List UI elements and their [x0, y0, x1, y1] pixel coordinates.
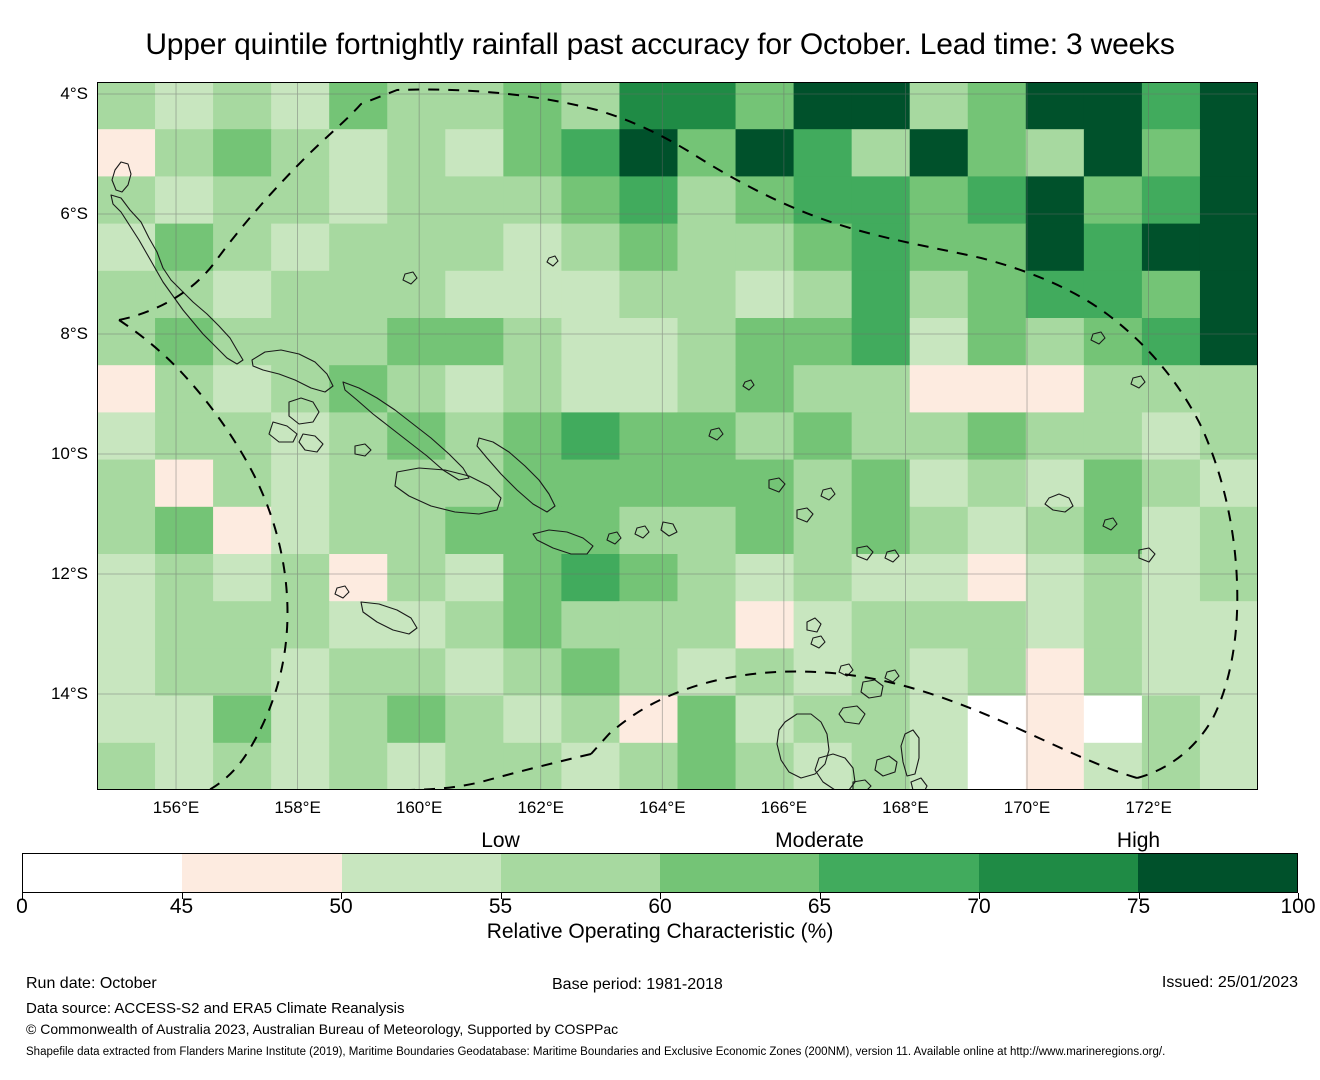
heatmap-cell	[852, 318, 911, 366]
heatmap-cell	[794, 412, 853, 460]
heatmap-cell	[910, 648, 969, 696]
colorbar-band	[182, 854, 341, 892]
heatmap-cell	[968, 507, 1027, 555]
heatmap-cell	[445, 318, 504, 366]
colorbar-tick-mark	[22, 893, 23, 899]
heatmap-cell	[387, 129, 446, 177]
heatmap-cell	[852, 129, 911, 177]
heatmap-cell	[445, 224, 504, 272]
heatmap-cell	[561, 129, 620, 177]
heatmap-cell	[1084, 176, 1143, 224]
heatmap-cell	[619, 554, 678, 602]
heatmap-cell	[329, 365, 388, 413]
heatmap-cell	[1200, 224, 1258, 272]
heatmap-cell	[155, 554, 214, 602]
heatmap-cell	[271, 176, 330, 224]
heatmap-cell	[1200, 318, 1258, 366]
heatmap-cell	[678, 601, 737, 649]
heatmap-cell	[213, 82, 272, 130]
heatmap-cell	[271, 365, 330, 413]
heatmap-cell	[503, 696, 562, 744]
heatmap-cell	[503, 82, 562, 130]
heatmap-cell	[1200, 412, 1258, 460]
heatmap-cell	[213, 743, 272, 790]
colorbar-axis-label: Relative Operating Characteristic (%)	[0, 920, 1320, 944]
heatmap-cell	[794, 271, 853, 319]
heatmap-cell	[271, 460, 330, 508]
heatmap-cell	[968, 412, 1027, 460]
heatmap-cell	[503, 601, 562, 649]
heatmap-cell	[968, 743, 1027, 790]
heatmap-cell	[1026, 365, 1085, 413]
heatmap-cell	[794, 554, 853, 602]
footer-shapefile-attribution: Shapefile data extracted from Flanders M…	[26, 1044, 1286, 1061]
heatmap-cell	[97, 460, 156, 508]
heatmap-cell	[910, 507, 969, 555]
heatmap-cell	[910, 460, 969, 508]
heatmap-cell	[445, 696, 504, 744]
heatmap-cell	[910, 554, 969, 602]
heatmap-cell	[852, 648, 911, 696]
heatmap-cell	[387, 554, 446, 602]
heatmap-cell	[445, 648, 504, 696]
heatmap-cell	[503, 176, 562, 224]
heatmap-cell	[1142, 412, 1201, 460]
heatmap-cell	[1142, 82, 1201, 130]
latitude-tick-label: 4°S	[60, 84, 88, 104]
heatmap-cell	[155, 129, 214, 177]
heatmap-cell	[387, 601, 446, 649]
colorbar-tick-mark	[660, 893, 661, 899]
heatmap-cell	[736, 318, 795, 366]
heatmap-cell	[1026, 507, 1085, 555]
heatmap-cell	[155, 176, 214, 224]
footer-issued-date: Issued: 25/01/2023	[1162, 974, 1298, 992]
heatmap-cell	[1142, 696, 1201, 744]
heatmap-cell	[155, 318, 214, 366]
heatmap-cell	[213, 224, 272, 272]
heatmap-cell	[678, 460, 737, 508]
heatmap-cell	[1026, 554, 1085, 602]
heatmap-cell	[678, 412, 737, 460]
heatmap-cell	[1084, 648, 1143, 696]
heatmap-cell	[503, 648, 562, 696]
colorbar-tick-mark	[182, 893, 183, 899]
heatmap-cell	[968, 176, 1027, 224]
heatmap-cell	[1142, 460, 1201, 508]
heatmap-cell	[968, 460, 1027, 508]
heatmap-cell	[97, 696, 156, 744]
heatmap-cell	[271, 601, 330, 649]
heatmap-cell	[852, 412, 911, 460]
heatmap-cell	[155, 82, 214, 130]
heatmap-cell	[1200, 176, 1258, 224]
heatmap-cell	[561, 554, 620, 602]
heatmap-cell	[155, 224, 214, 272]
heatmap-cell	[794, 601, 853, 649]
heatmap-cell	[852, 82, 911, 130]
heatmap-cell	[619, 743, 678, 790]
heatmap-cell	[678, 648, 737, 696]
heatmap-cell	[155, 460, 214, 508]
heatmap-cell	[1142, 648, 1201, 696]
heatmap-cell	[561, 224, 620, 272]
heatmap-cell	[619, 224, 678, 272]
colorbar-band	[979, 854, 1138, 892]
heatmap-cell	[561, 82, 620, 130]
heatmap-cell	[97, 82, 156, 130]
heatmap-cell	[271, 271, 330, 319]
heatmap-cell	[1084, 696, 1143, 744]
heatmap-cell	[445, 129, 504, 177]
heatmap-cell	[387, 648, 446, 696]
heatmap-cell	[387, 696, 446, 744]
heatmap-cell	[619, 176, 678, 224]
map-plot	[97, 82, 1258, 790]
heatmap-cell	[1200, 743, 1258, 790]
heatmap-cell	[1200, 601, 1258, 649]
heatmap-cell	[561, 601, 620, 649]
heatmap-cell	[678, 318, 737, 366]
heatmap-cell	[1026, 224, 1085, 272]
colorbar-band	[23, 854, 182, 892]
heatmap-cell	[97, 743, 156, 790]
footer-data-source: Data source: ACCESS-S2 and ERA5 Climate …	[26, 1000, 405, 1017]
heatmap-cell	[794, 176, 853, 224]
heatmap-cell	[678, 176, 737, 224]
colorbar-band	[819, 854, 978, 892]
heatmap-cell	[213, 365, 272, 413]
heatmap-cell	[561, 318, 620, 366]
heatmap-cell	[1084, 743, 1143, 790]
heatmap-cell	[678, 365, 737, 413]
heatmap-cell	[329, 129, 388, 177]
heatmap-cell	[968, 554, 1027, 602]
heatmap-cell	[387, 412, 446, 460]
heatmap-cell	[1084, 365, 1143, 413]
heatmap-cell	[503, 365, 562, 413]
heatmap-cell	[213, 601, 272, 649]
footer-base-period: Base period: 1981-2018	[552, 976, 723, 994]
heatmap-cell	[678, 82, 737, 130]
heatmap-cell	[736, 554, 795, 602]
heatmap-cell	[794, 648, 853, 696]
heatmap-cell	[561, 271, 620, 319]
heatmap-cell	[503, 554, 562, 602]
heatmap-cell	[1142, 554, 1201, 602]
heatmap-cell	[329, 554, 388, 602]
longitude-tick-label: 164°E	[639, 798, 686, 818]
heatmap-cell	[678, 743, 737, 790]
heatmap-cell	[736, 507, 795, 555]
heatmap-cell	[678, 129, 737, 177]
heatmap-cell	[1142, 129, 1201, 177]
heatmap-cell	[329, 743, 388, 790]
colorbar-band	[1138, 854, 1297, 892]
heatmap-cell	[155, 696, 214, 744]
heatmap-cell	[1026, 743, 1085, 790]
colorbar-tick-mark	[820, 893, 821, 899]
heatmap-cell	[97, 554, 156, 602]
heatmap-cell	[445, 365, 504, 413]
longitude-tick-label: 170°E	[1004, 798, 1051, 818]
latitude-tick-label: 14°S	[51, 684, 88, 704]
heatmap-cell	[1200, 365, 1258, 413]
heatmap-cell	[271, 696, 330, 744]
heatmap-cell	[910, 601, 969, 649]
heatmap-cell	[852, 176, 911, 224]
heatmap-cell	[619, 365, 678, 413]
heatmap-cell	[271, 129, 330, 177]
heatmap-cell	[678, 224, 737, 272]
heatmap-cell	[155, 365, 214, 413]
heatmap-cell	[968, 82, 1027, 130]
heatmap-canvas	[97, 82, 1258, 790]
heatmap-cell	[213, 460, 272, 508]
heatmap-cell	[736, 412, 795, 460]
heatmap-cell	[794, 507, 853, 555]
colorbar-tick-mark	[341, 893, 342, 899]
heatmap-cell	[1200, 460, 1258, 508]
heatmap-cell	[1142, 365, 1201, 413]
longitude-tick-label: 156°E	[153, 798, 200, 818]
heatmap-cell	[561, 648, 620, 696]
heatmap-cell	[1084, 224, 1143, 272]
heatmap-cell	[155, 412, 214, 460]
heatmap-cell	[619, 601, 678, 649]
heatmap-cell	[213, 696, 272, 744]
heatmap-cell	[329, 507, 388, 555]
heatmap-cell	[1026, 412, 1085, 460]
heatmap-cell	[1084, 271, 1143, 319]
heatmap-cell	[619, 696, 678, 744]
colorbar	[22, 853, 1298, 893]
colorbar-band	[342, 854, 501, 892]
heatmap-cell	[736, 224, 795, 272]
heatmap-cell	[1084, 129, 1143, 177]
heatmap-cell	[503, 412, 562, 460]
heatmap-cell	[271, 554, 330, 602]
heatmap-cell	[1026, 176, 1085, 224]
heatmap-cell	[155, 601, 214, 649]
heatmap-cell	[619, 412, 678, 460]
heatmap-cell	[155, 743, 214, 790]
heatmap-cell	[736, 82, 795, 130]
heatmap-cell	[329, 648, 388, 696]
heatmap-cell	[97, 176, 156, 224]
heatmap-cell	[561, 412, 620, 460]
latitude-tick-label: 6°S	[60, 204, 88, 224]
longitude-tick-label: 168°E	[882, 798, 929, 818]
heatmap-cell	[968, 648, 1027, 696]
heatmap-cell	[910, 318, 969, 366]
heatmap-cell	[213, 507, 272, 555]
heatmap-cell	[271, 82, 330, 130]
heatmap-cell	[794, 129, 853, 177]
heatmap-cell	[910, 365, 969, 413]
heatmap-cell	[387, 224, 446, 272]
heatmap-cell	[678, 696, 737, 744]
heatmap-cell	[387, 365, 446, 413]
heatmap-cell	[387, 176, 446, 224]
heatmap-cell	[619, 129, 678, 177]
colorbar-band	[660, 854, 819, 892]
heatmap-cell	[213, 176, 272, 224]
heatmap-cell	[97, 365, 156, 413]
heatmap-cell	[271, 224, 330, 272]
heatmap-cell	[445, 601, 504, 649]
heatmap-cell	[736, 129, 795, 177]
heatmap-cell	[968, 696, 1027, 744]
colorbar-tick-mark	[1139, 893, 1140, 899]
heatmap-cell	[1084, 460, 1143, 508]
heatmap-cell	[1142, 318, 1201, 366]
heatmap-cell	[329, 271, 388, 319]
heatmap-cell	[97, 648, 156, 696]
heatmap-cell	[503, 743, 562, 790]
heatmap-cell	[910, 271, 969, 319]
heatmap-cell	[445, 176, 504, 224]
page-title: Upper quintile fortnightly rainfall past…	[0, 28, 1320, 62]
heatmap-cell	[1026, 601, 1085, 649]
colorbar-bands	[22, 853, 1298, 893]
heatmap-cell	[1026, 648, 1085, 696]
heatmap-cell	[1084, 601, 1143, 649]
longitude-tick-label: 158°E	[274, 798, 321, 818]
heatmap-cell	[910, 412, 969, 460]
heatmap-cell	[1200, 129, 1258, 177]
heatmap-cell	[910, 82, 969, 130]
heatmap-cell	[503, 129, 562, 177]
heatmap-cell	[852, 696, 911, 744]
heatmap-cell	[561, 696, 620, 744]
heatmap-cell	[1026, 82, 1085, 130]
heatmap-cell	[213, 271, 272, 319]
heatmap-cell	[619, 460, 678, 508]
colorbar-category-label: Moderate	[775, 829, 864, 853]
longitude-tick-label: 172°E	[1125, 798, 1172, 818]
heatmap-cell	[445, 554, 504, 602]
colorbar-category-label: Low	[481, 829, 520, 853]
latitude-tick-label: 8°S	[60, 324, 88, 344]
heatmap-cell	[97, 601, 156, 649]
heatmap-cell	[1142, 176, 1201, 224]
heatmap-cell	[736, 365, 795, 413]
heatmap-cell	[155, 507, 214, 555]
heatmap-cell	[794, 318, 853, 366]
heatmap-cell	[561, 460, 620, 508]
heatmap-cell	[271, 318, 330, 366]
heatmap-cell	[910, 176, 969, 224]
heatmap-cell	[852, 460, 911, 508]
heatmap-cell	[968, 224, 1027, 272]
heatmap-cell	[329, 601, 388, 649]
heatmap-cell	[1142, 224, 1201, 272]
heatmap-cell	[678, 507, 737, 555]
heatmap-cell	[910, 696, 969, 744]
heatmap-cell	[852, 601, 911, 649]
heatmap-cell	[1084, 507, 1143, 555]
heatmap-cell	[503, 224, 562, 272]
heatmap-cell	[329, 176, 388, 224]
heatmap-cell	[1084, 318, 1143, 366]
heatmap-cell	[736, 176, 795, 224]
heatmap-cell	[619, 648, 678, 696]
latitude-tick-label: 10°S	[51, 444, 88, 464]
heatmap-cell	[852, 271, 911, 319]
longitude-tick-label: 162°E	[517, 798, 564, 818]
heatmap-cell	[1084, 82, 1143, 130]
latitude-tick-label: 12°S	[51, 564, 88, 584]
heatmap-cell	[619, 318, 678, 366]
heatmap-cell	[503, 318, 562, 366]
colorbar-tick-mark	[501, 893, 502, 899]
heatmap-cell	[1026, 129, 1085, 177]
heatmap-cell	[271, 743, 330, 790]
heatmap-cell	[97, 412, 156, 460]
footer-run-date: Run date: October	[26, 975, 157, 993]
heatmap-cell	[329, 412, 388, 460]
heatmap-cell	[1142, 507, 1201, 555]
heatmap-cell	[1026, 318, 1085, 366]
heatmap-cell	[736, 460, 795, 508]
heatmap-cell	[736, 696, 795, 744]
heatmap-cell	[736, 601, 795, 649]
longitude-tick-label: 166°E	[761, 798, 808, 818]
heatmap-cell	[561, 507, 620, 555]
heatmap-cell	[97, 129, 156, 177]
heatmap-cell	[271, 412, 330, 460]
colorbar-band	[501, 854, 660, 892]
heatmap-cell	[1200, 271, 1258, 319]
heatmap-cell	[1084, 412, 1143, 460]
heatmap-cell	[968, 601, 1027, 649]
heatmap-cell	[1200, 82, 1258, 130]
heatmap-cell	[561, 365, 620, 413]
footer-copyright: © Commonwealth of Australia 2023, Austra…	[26, 1021, 618, 1037]
heatmap-cell	[213, 129, 272, 177]
heatmap-cell	[97, 507, 156, 555]
heatmap-cell	[387, 460, 446, 508]
heatmap-cell	[678, 271, 737, 319]
heatmap-cell	[852, 365, 911, 413]
heatmap-cell	[678, 554, 737, 602]
longitude-tick-label: 160°E	[396, 798, 443, 818]
heatmap-cell	[445, 271, 504, 319]
heatmap-cell	[561, 743, 620, 790]
heatmap-cell	[503, 271, 562, 319]
heatmap-cell	[794, 224, 853, 272]
heatmap-cell	[794, 365, 853, 413]
heatmap-cell	[387, 318, 446, 366]
heatmap-cell	[968, 271, 1027, 319]
heatmap-cell	[387, 743, 446, 790]
heatmap-cell	[1200, 554, 1258, 602]
heatmap-cell	[619, 82, 678, 130]
colorbar-tick-mark	[979, 893, 980, 899]
heatmap-cell	[1142, 601, 1201, 649]
heatmap-cell	[329, 224, 388, 272]
heatmap-cell	[910, 224, 969, 272]
heatmap-cell	[329, 318, 388, 366]
heatmap-cell	[1084, 554, 1143, 602]
heatmap-cell	[968, 129, 1027, 177]
heatmap-cell	[387, 507, 446, 555]
heatmap-cell	[852, 554, 911, 602]
heatmap-cell	[1142, 271, 1201, 319]
heatmap-cell	[736, 271, 795, 319]
heatmap-cell	[619, 271, 678, 319]
